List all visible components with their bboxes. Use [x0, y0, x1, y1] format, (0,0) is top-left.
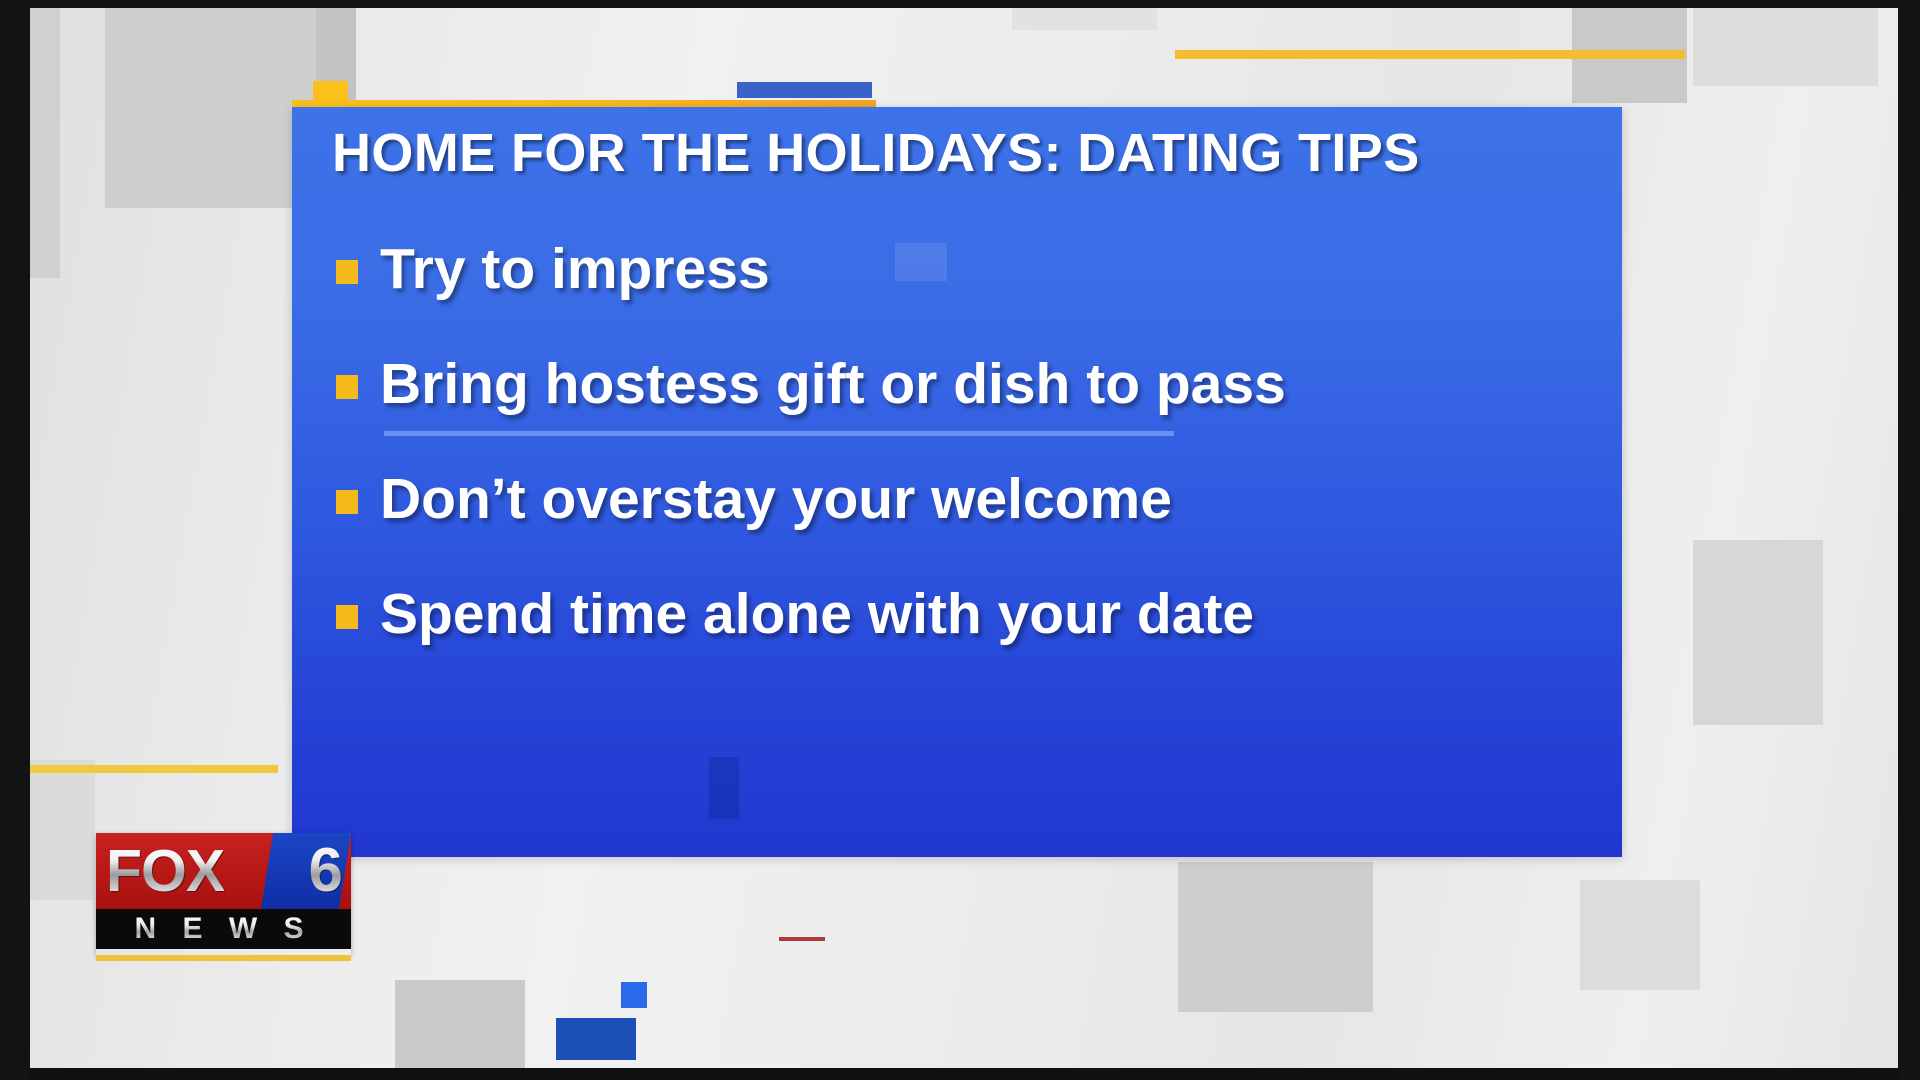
fox6-news-logo: FOX 6 N E W S — [96, 833, 351, 955]
background-block-gray — [1693, 540, 1823, 725]
background-accent-blue — [621, 982, 647, 1008]
background-accent-red — [779, 937, 825, 941]
logo-network-name: FOX — [106, 838, 224, 904]
background-block-gray — [1693, 8, 1878, 86]
pillarbox-left-bar — [0, 0, 30, 1080]
panel-decor-square-dark — [709, 757, 739, 819]
list-item-label: Don’t overstay your welcome — [380, 471, 1172, 528]
tips-list: Try to impress Bring hostess gift or dis… — [336, 212, 1606, 672]
list-item-label: Bring hostess gift or dish to pass — [380, 356, 1286, 413]
list-item: Spend time alone with your date — [336, 557, 1606, 672]
pillarbox-right-bar — [1898, 0, 1920, 1080]
list-item: Try to impress — [336, 212, 1606, 327]
background-accent-yellow — [1175, 50, 1685, 59]
letterbox-bottom-bar — [0, 1068, 1920, 1080]
letterbox-top-bar — [0, 0, 1920, 8]
logo-top-band: FOX 6 — [96, 833, 351, 909]
list-item-underline — [384, 431, 1174, 436]
logo-channel-number: 6 — [309, 836, 343, 906]
background-block-gray — [1178, 862, 1373, 1012]
logo-underline-accent — [96, 955, 351, 961]
background-block-gray — [1580, 880, 1700, 990]
bullet-square-icon — [336, 375, 358, 399]
bullet-square-icon — [336, 260, 358, 284]
background-block-gray — [395, 980, 525, 1075]
background-accent-blue — [737, 82, 872, 98]
list-item-label: Try to impress — [380, 241, 770, 298]
list-item: Bring hostess gift or dish to pass — [336, 327, 1606, 442]
background-accent-blue — [556, 1018, 636, 1060]
tips-panel: HOME FOR THE HOLIDAYS: DATING TIPS Try t… — [292, 107, 1622, 857]
background-block-gray — [1012, 8, 1157, 30]
logo-bottom-band: N E W S — [96, 909, 351, 949]
list-item-label: Spend time alone with your date — [380, 586, 1254, 643]
logo-department-name: N E W S — [96, 911, 351, 947]
bullet-square-icon — [336, 605, 358, 629]
list-item: Don’t overstay your welcome — [336, 442, 1606, 557]
page-title: HOME FOR THE HOLIDAYS: DATING TIPS — [332, 125, 1592, 182]
background-accent-yellow — [0, 765, 278, 773]
bullet-square-icon — [336, 490, 358, 514]
broadcast-graphic-frame: HOME FOR THE HOLIDAYS: DATING TIPS Try t… — [0, 0, 1920, 1080]
